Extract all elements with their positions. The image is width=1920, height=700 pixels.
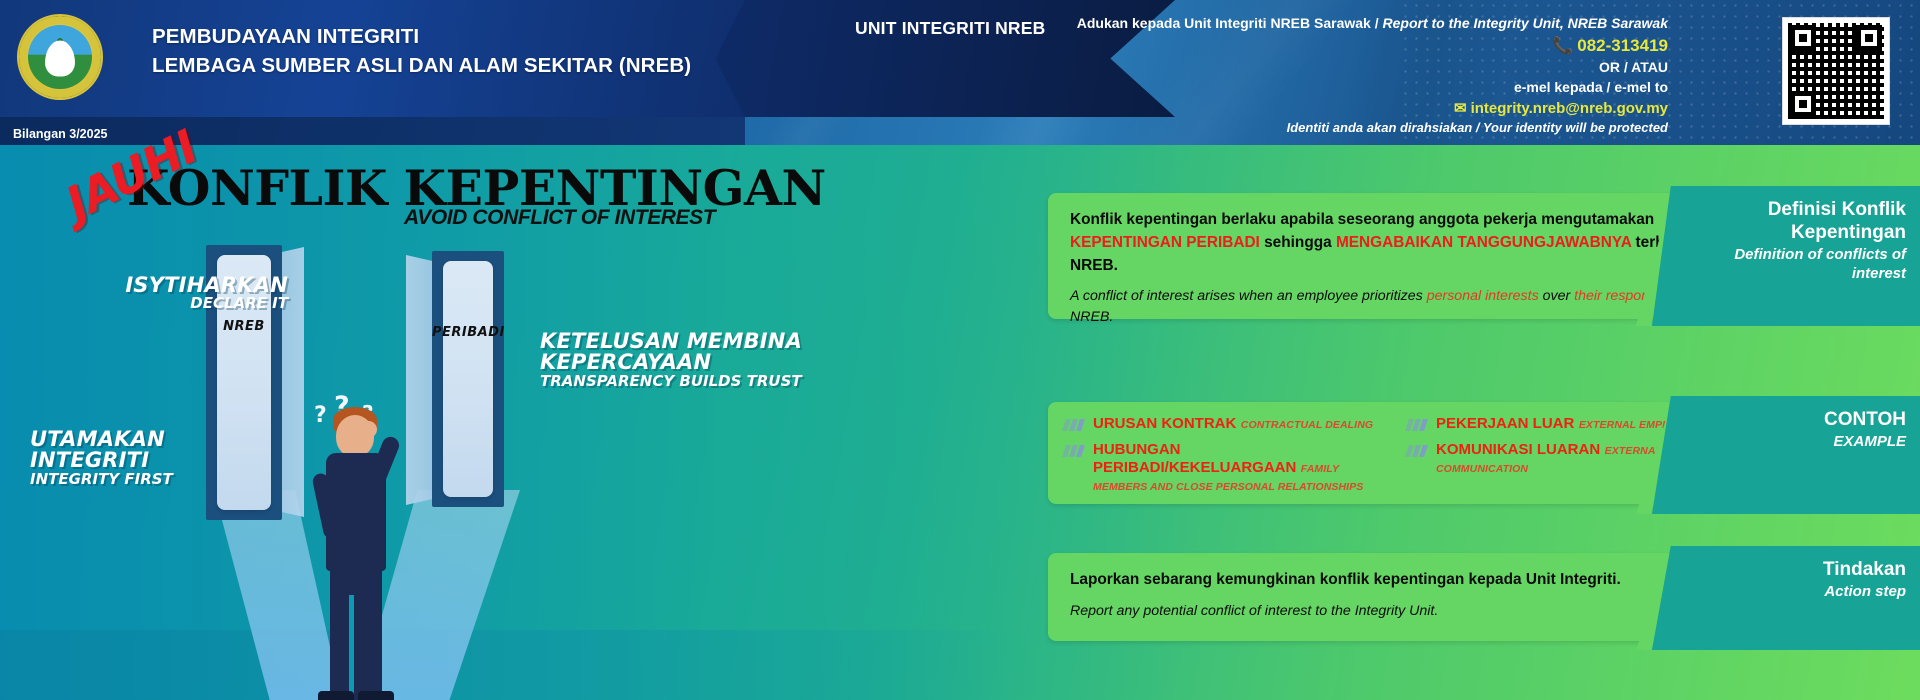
action-en: Report any potential conflict of interes… xyxy=(1070,601,1726,622)
report-separator: / xyxy=(1371,15,1383,31)
report-label-ms: Adukan kepada Unit Integriti NREB Sarawa… xyxy=(1077,15,1371,31)
bars-icon xyxy=(1062,419,1088,431)
bars-icon xyxy=(1062,445,1088,457)
illustration: NREB PERIBADI ? ? ? ISYTIHARKAN DECLARE … xyxy=(0,145,840,700)
example-item: HUBUNGAN PERIBADI/KEKELUARGAAN FAMILY ME… xyxy=(1064,441,1387,495)
example-text: URUSAN KONTRAK CONTRACTUAL DEALING xyxy=(1093,415,1373,433)
person-leg-gap xyxy=(349,595,354,700)
tab-definition[interactable]: Definisi Konflik Kepentingan Definition … xyxy=(1652,186,1920,326)
definition-en: A conflict of interest arises when an em… xyxy=(1070,286,1726,327)
person-shoe-left xyxy=(318,691,354,700)
definition-ms-highlight1: KEPENTINGAN PERIBADI xyxy=(1070,234,1260,251)
label-declare-ms: ISYTIHARKAN xyxy=(88,275,288,296)
example-en: CONTRACTUAL DEALING xyxy=(1241,419,1373,431)
bars-icon xyxy=(1405,445,1431,457)
example-text: HUBUNGAN PERIBADI/KEKELUARGAAN FAMILY ME… xyxy=(1093,441,1387,495)
definition-en-part2: over xyxy=(1539,288,1574,304)
example-ms: KOMUNIKASI LUARAN xyxy=(1436,441,1600,458)
organization-title: PEMBUDAYAAN INTEGRITI LEMBAGA SUMBER ASL… xyxy=(152,22,691,80)
door-right-label: PERIBADI xyxy=(432,325,504,340)
person-legs xyxy=(330,563,382,700)
action-text: Laporkan sebarang kemungkinan konflik ke… xyxy=(1048,553,1748,621)
label-transparency-en: TRANSPARENCY BUILDS TRUST xyxy=(540,374,840,389)
report-line: Adukan kepada Unit Integriti NREB Sarawa… xyxy=(1028,14,1668,34)
qr-code-pattern xyxy=(1788,23,1884,119)
tab-action-ms: Tindakan xyxy=(1692,558,1906,581)
definition-ms: Konflik kepentingan berlaku apabila sese… xyxy=(1070,209,1726,277)
example-grid: URUSAN KONTRAK CONTRACTUAL DEALING PEKER… xyxy=(1048,402,1748,495)
phone-icon: 📞 xyxy=(1552,34,1573,58)
door-peribadi: PERIBADI xyxy=(432,251,504,507)
action-ms: Laporkan sebarang kemungkinan konflik ke… xyxy=(1070,569,1726,592)
unit-title: UNIT INTEGRITI NREB xyxy=(855,18,1045,39)
label-integrity-first: UTAMAKAN INTEGRITI INTEGRITY FIRST xyxy=(30,429,290,487)
tab-definition-ms: Definisi Konflik Kepentingan xyxy=(1692,198,1906,244)
qr-eye-topleft xyxy=(1790,25,1816,51)
example-item: URUSAN KONTRAK CONTRACTUAL DEALING xyxy=(1064,415,1387,433)
definition-en-part1: A conflict of interest arises when an em… xyxy=(1070,288,1427,304)
page-header: PEMBUDAYAAN INTEGRITI LEMBAGA SUMBER ASL… xyxy=(0,0,1920,145)
nreb-logo xyxy=(17,14,103,100)
definition-en-highlight1: personal interests xyxy=(1427,288,1539,304)
person-hand xyxy=(360,421,377,438)
issue-number: Bilangan 3/2025 xyxy=(13,127,108,141)
header-bottom-bar xyxy=(0,117,745,145)
label-integrity-ms: UTAMAKAN INTEGRITI xyxy=(30,429,290,472)
label-transparency: KETELUSAN MEMBINA KEPERCAYAAN TRANSPAREN… xyxy=(540,331,840,389)
label-declare-en: DECLARE IT xyxy=(88,296,288,311)
phone-row[interactable]: 📞082-313419 xyxy=(1028,34,1668,58)
tab-example[interactable]: CONTOH EXAMPLE xyxy=(1652,396,1920,514)
email-row[interactable]: ✉integrity.nreb@nreb.gov.my xyxy=(1028,98,1668,119)
qr-eye-topright xyxy=(1856,25,1882,51)
example-ms: PEKERJAAN LUAR xyxy=(1436,415,1574,432)
label-declare-it: ISYTIHARKAN DECLARE IT xyxy=(88,275,288,312)
email-label: e-mel kepada / e-mel to xyxy=(1028,78,1668,98)
question-mark-1: ? xyxy=(314,403,327,428)
contact-block: Adukan kepada Unit Integriti NREB Sarawa… xyxy=(1028,14,1668,138)
tab-example-ms: CONTOH xyxy=(1692,408,1906,431)
org-line-2: LEMBAGA SUMBER ASLI DAN ALAM SEKITAR (NR… xyxy=(152,51,691,80)
envelope-icon: ✉ xyxy=(1454,98,1467,119)
org-line-1: PEMBUDAYAAN INTEGRITI xyxy=(152,22,691,51)
tab-example-en: EXAMPLE xyxy=(1692,433,1906,451)
bars-icon xyxy=(1405,419,1431,431)
action-panel: Laporkan sebarang kemungkinan konflik ke… xyxy=(1048,553,1748,641)
door-left-label: NREB xyxy=(206,319,282,334)
door-right-panel xyxy=(443,261,493,497)
example-ms: URUSAN KONTRAK xyxy=(1093,415,1236,432)
definition-ms-highlight2: MENGABAIKAN TANGGUNGJAWABNYA xyxy=(1336,234,1631,251)
example-ms: HUBUNGAN PERIBADI/KEKELUARGAAN xyxy=(1093,441,1296,476)
person-figure: ? ? ? xyxy=(300,295,420,700)
person-shoe-right xyxy=(358,691,394,700)
qr-code[interactable] xyxy=(1782,17,1890,125)
privacy-note: Identiti anda akan dirahsiakan / Your id… xyxy=(1028,119,1668,137)
tab-action-en: Action step xyxy=(1692,583,1906,601)
definition-ms-part1: Konflik kepentingan berlaku apabila sese… xyxy=(1070,211,1654,228)
phone-number: 082-313419 xyxy=(1577,36,1668,55)
infographic-poster: PEMBUDAYAAN INTEGRITI LEMBAGA SUMBER ASL… xyxy=(0,0,1920,700)
label-integrity-en: INTEGRITY FIRST xyxy=(30,472,290,487)
email-address: integrity.nreb@nreb.gov.my xyxy=(1471,100,1668,117)
definition-ms-part2: sehingga xyxy=(1260,234,1336,251)
or-label: OR / ATAU xyxy=(1028,58,1668,78)
report-label-en: Report to the Integrity Unit, NREB Saraw… xyxy=(1383,15,1668,31)
logo-ring xyxy=(19,16,101,98)
tab-definition-en: Definition of conflicts of interest xyxy=(1692,246,1906,283)
label-transparency-ms: KETELUSAN MEMBINA KEPERCAYAAN xyxy=(540,331,840,374)
tab-action[interactable]: Tindakan Action step xyxy=(1652,546,1920,650)
page-title: KONFLIK KEPENTINGAN xyxy=(127,159,826,217)
qr-eye-bottomleft xyxy=(1790,91,1816,117)
example-panel: URUSAN KONTRAK CONTRACTUAL DEALING PEKER… xyxy=(1048,402,1748,504)
